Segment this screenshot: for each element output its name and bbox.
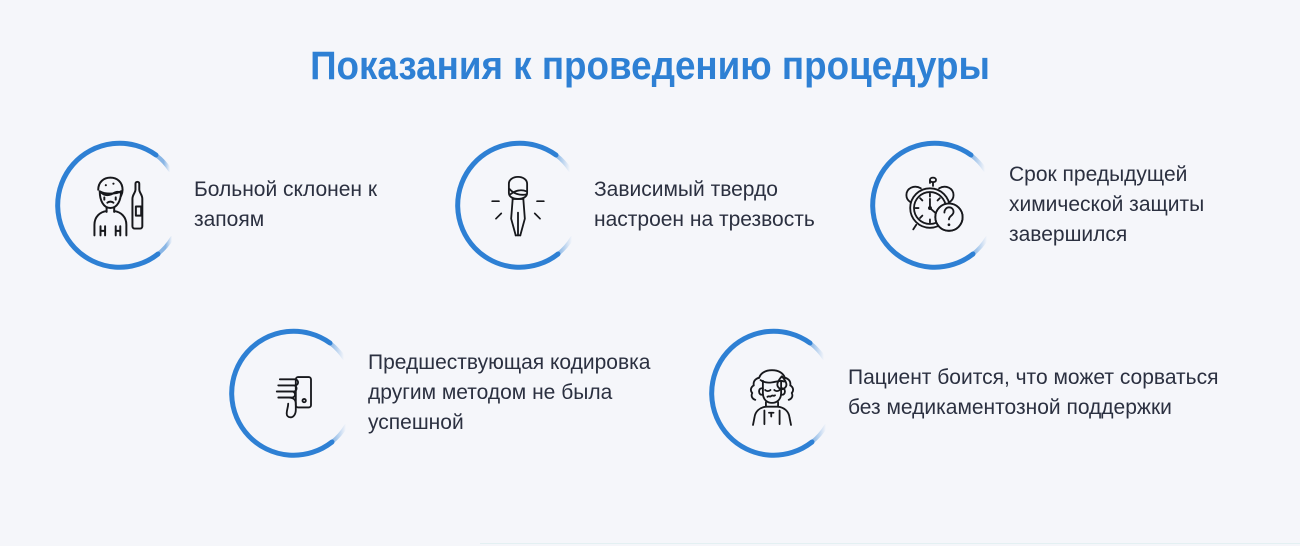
icon-badge-4 bbox=[222, 318, 362, 468]
infographic-page: Показания к проведению процедуры bbox=[0, 0, 1300, 546]
indications-row-bottom: Предшествующая кодировка другим методом … bbox=[222, 318, 1258, 468]
drunk-man-with-bottle-icon bbox=[80, 167, 156, 243]
indication-text-3: Срок предыдущей химической защиты заверш… bbox=[1003, 160, 1258, 250]
indications-row-top: Больной склонен к запоям bbox=[48, 130, 1258, 280]
icon-badge-5 bbox=[702, 318, 842, 468]
standing-person-arms-crossed-icon bbox=[480, 167, 556, 243]
indication-item-5: Пациент боится, что может сорваться без … bbox=[702, 318, 1258, 468]
icon-badge-2 bbox=[448, 130, 588, 280]
indication-item-3: Срок предыдущей химической защиты заверш… bbox=[863, 130, 1258, 280]
indication-text-4: Предшествующая кодировка другим методом … bbox=[362, 348, 702, 438]
bottom-divider bbox=[480, 543, 1300, 544]
alarm-clock-question-mark-icon bbox=[895, 167, 971, 243]
icon-badge-3 bbox=[863, 130, 1003, 280]
indication-text-2: Зависимый твердо настроен на трезвость bbox=[588, 175, 834, 235]
indication-text-1: Больной склонен к запоям bbox=[188, 175, 429, 235]
worried-person-sweat-drop-icon bbox=[734, 355, 810, 431]
page-title: Показания к проведению процедуры bbox=[52, 44, 1248, 89]
indication-item-2: Зависимый твердо настроен на трезвость bbox=[448, 130, 863, 280]
icon-badge-1 bbox=[48, 130, 188, 280]
thumbs-down-icon bbox=[254, 355, 330, 431]
indication-item-1: Больной склонен к запоям bbox=[48, 130, 448, 280]
indication-text-5: Пациент боится, что может сорваться без … bbox=[842, 363, 1228, 423]
indication-item-4: Предшествующая кодировка другим методом … bbox=[222, 318, 702, 468]
